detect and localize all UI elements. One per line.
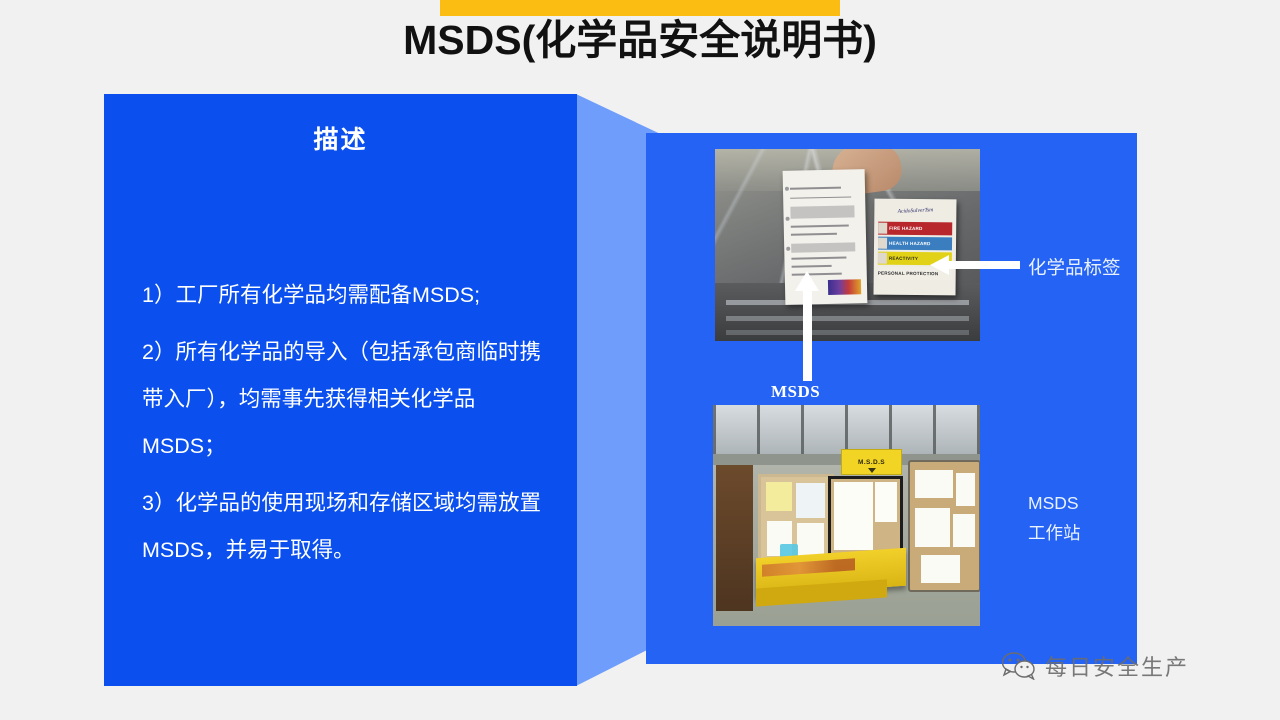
hmis-row-label: HEALTH HAZARD (889, 241, 931, 246)
panel-header-label: 描述 (313, 120, 367, 156)
hmis-row-label: REACTIVITY (889, 256, 918, 261)
callout-label-chemical-tag: 化学品标签 (1028, 254, 1121, 280)
list-item: 3）化学品的使用现场和存储区域均需放置MSDS，并易于取得。 (142, 480, 552, 574)
msds-sign: M.S.D.S (841, 449, 902, 475)
watermark-text: 每日安全生产 (1045, 650, 1189, 682)
slide-root: MSDS(化学品安全说明书) 描述 1）工厂所有化学品均需配备MSDS; 2）所… (0, 0, 1280, 720)
panel-front-face: 描述 1）工厂所有化学品均需配备MSDS; 2）所有化学品的导入（包括承包商临时… (104, 94, 577, 686)
photo-msds-workstation: M.S.D.S (713, 405, 980, 626)
hmis-row-fire: FIRE HAZARD (878, 222, 952, 236)
panel-header: 描述 (104, 94, 577, 182)
description-panel: 描述 1）工厂所有化学品均需配备MSDS; 2）所有化学品的导入（包括承包商临时… (104, 94, 649, 686)
media-panel: AcidoSulverTsm FIRE HAZARD HEALTH HAZARD… (646, 133, 1137, 664)
hmis-title: AcidoSulverTsm (876, 199, 955, 222)
page-title: MSDS(化学品安全说明书) (0, 6, 1280, 66)
list-item: 1）工厂所有化学品均需配备MSDS; (142, 272, 552, 319)
wechat-icon (1002, 652, 1036, 680)
bulletin-board-right (908, 460, 980, 592)
photo-msds-and-label: AcidoSulverTsm FIRE HAZARD HEALTH HAZARD… (715, 149, 980, 341)
callout-label-msds: MSDS (771, 382, 820, 402)
hmis-chemical-label: AcidoSulverTsm FIRE HAZARD HEALTH HAZARD… (873, 198, 956, 295)
callout-arrow-msds-head (795, 271, 819, 291)
callout-arrow-tag-stem (948, 261, 1020, 269)
framed-board (828, 476, 903, 560)
hmis-row-health: HEALTH HAZARD (878, 237, 952, 251)
msds-sign-text: M.S.D.S (858, 459, 885, 466)
callout-label-workstation: MSDS 工作站 (1028, 488, 1081, 548)
callout-label-workstation-line2: 工作站 (1028, 518, 1081, 548)
color-bar (827, 280, 860, 295)
clerestory-windows (713, 405, 980, 454)
framed-board-inner (831, 479, 900, 557)
watermark: 每日安全生产 (1002, 650, 1189, 682)
callout-arrow-tag-head (930, 255, 949, 275)
callout-label-workstation-line1: MSDS (1028, 488, 1081, 518)
description-list: 1）工厂所有化学品均需配备MSDS; 2）所有化学品的导入（包括承包商临时携带入… (142, 272, 552, 584)
list-item: 2）所有化学品的导入（包括承包商临时携带入厂），均需事先获得相关化学品MSDS； (142, 329, 552, 470)
doorway (716, 465, 753, 611)
hmis-row-label: FIRE HAZARD (889, 226, 922, 231)
callout-arrow-msds-stem (803, 285, 812, 381)
